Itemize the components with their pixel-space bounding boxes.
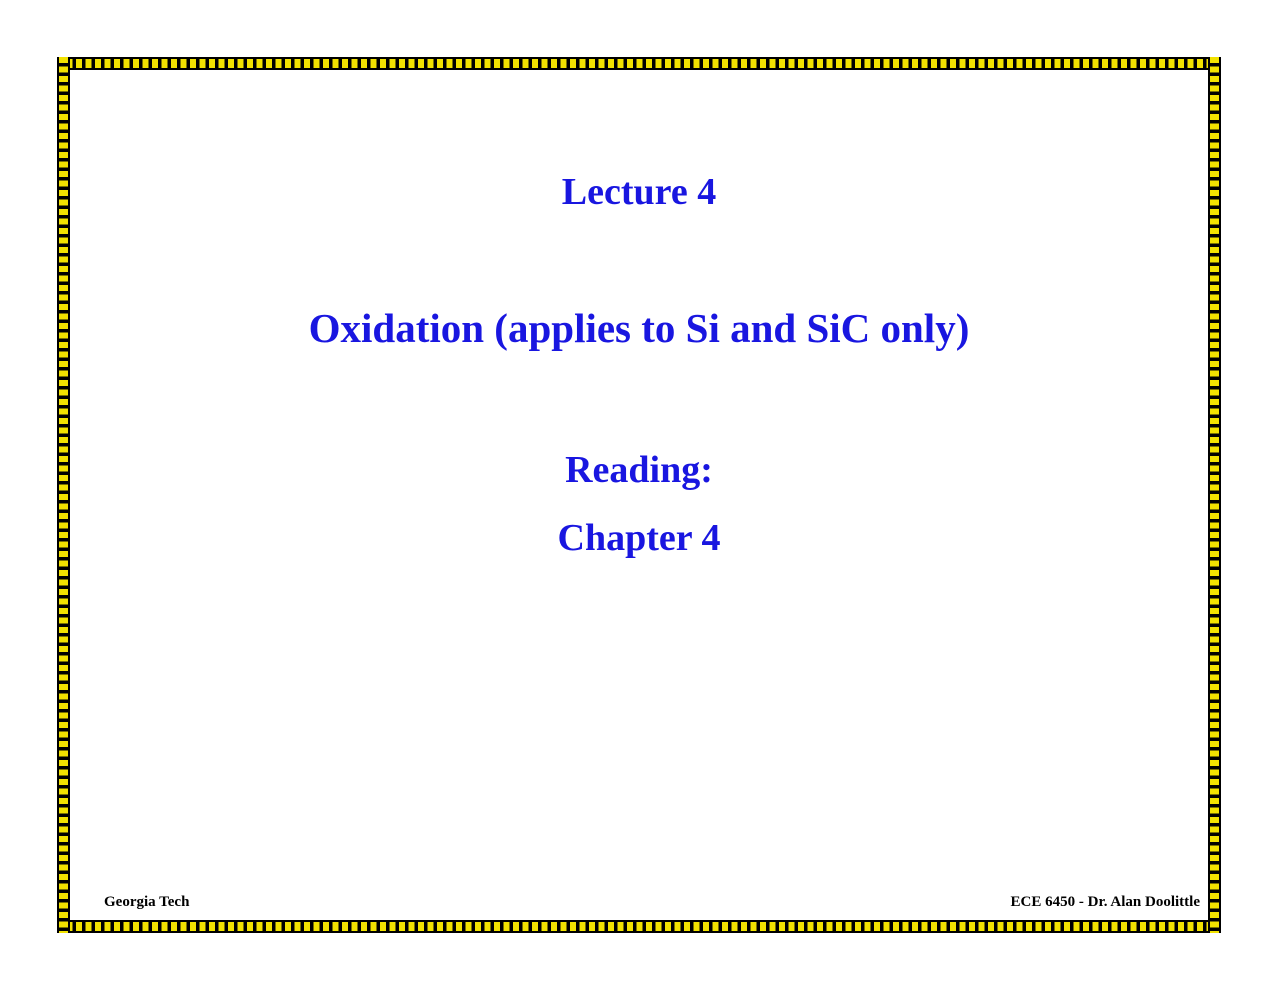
- reading-label: Reading:: [70, 448, 1208, 492]
- slide-canvas: Lecture 4 Oxidation (applies to Si and S…: [57, 57, 1221, 933]
- lecture-number-heading: Lecture 4: [70, 170, 1208, 214]
- slide-border-top: [57, 57, 1221, 70]
- slide-footer: Georgia Tech ECE 6450 - Dr. Alan Doolitt…: [70, 890, 1208, 912]
- slide-border-bottom: [57, 920, 1221, 933]
- slide-border-right: [1208, 57, 1221, 933]
- reading-assignment: Chapter 4: [70, 516, 1208, 560]
- footer-institution: Georgia Tech: [104, 892, 189, 912]
- slide-title: Oxidation (applies to Si and SiC only): [70, 304, 1208, 352]
- slide-border-left: [57, 57, 70, 933]
- slide-content-area: Lecture 4 Oxidation (applies to Si and S…: [70, 70, 1208, 920]
- footer-course-instructor: ECE 6450 - Dr. Alan Doolittle: [1011, 892, 1200, 912]
